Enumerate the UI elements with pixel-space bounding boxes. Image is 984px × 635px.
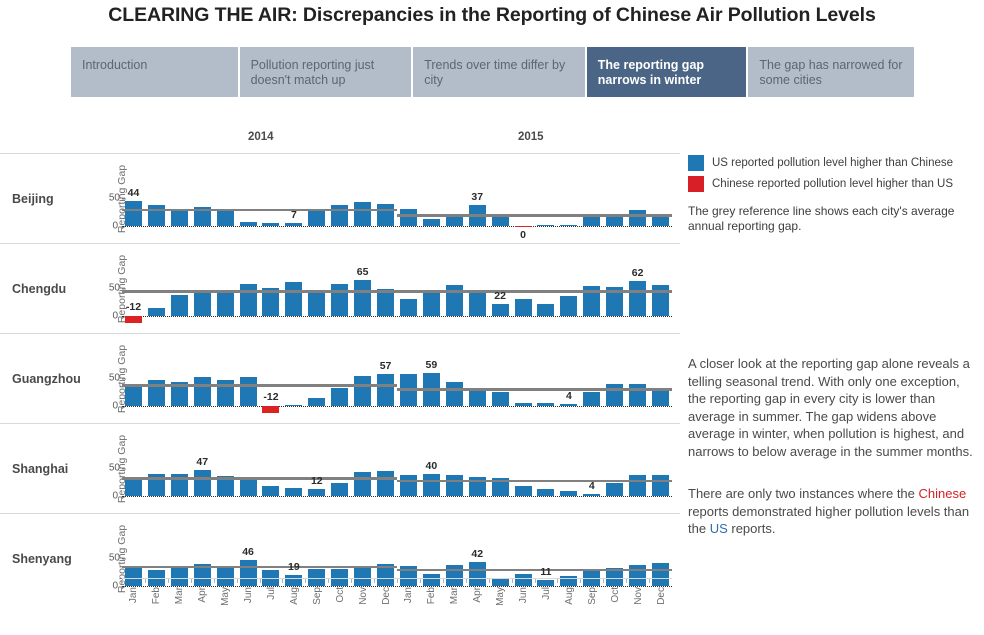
month-label: Feb: [426, 587, 437, 604]
average-reference-line-2015: [397, 569, 672, 572]
month-tick: [512, 579, 513, 583]
month-label: Oct: [610, 587, 621, 603]
bar-value-label: 42: [471, 548, 483, 560]
average-reference-line-2015: [397, 214, 672, 217]
plot-area-shanghai: 5004712404: [122, 434, 672, 506]
city-label-guangzhou: Guangzhou: [12, 372, 81, 386]
month-label: Jun: [518, 587, 529, 603]
bar[interactable]: [583, 494, 600, 496]
bar[interactable]: [262, 486, 279, 496]
bar[interactable]: [606, 216, 623, 226]
bar-value-label: 11: [540, 566, 551, 578]
month-label: Apr: [472, 587, 483, 603]
bar-value-label: 40: [426, 460, 438, 472]
right-panel: US reported pollution level higher than …: [688, 155, 980, 234]
bar-value-label: 59: [426, 359, 438, 371]
city-row-beijing: BeijingReporting Gap500447370: [0, 153, 680, 243]
month-label: Oct: [335, 587, 346, 603]
bar[interactable]: [331, 483, 348, 496]
bar[interactable]: [217, 292, 234, 316]
month-tick: [260, 579, 261, 583]
bar[interactable]: [423, 474, 440, 496]
month-label: Apr: [197, 587, 208, 603]
legend-label-chinese-higher: Chinese reported pollution level higher …: [712, 178, 953, 190]
bar[interactable]: [537, 403, 554, 406]
bar[interactable]: [515, 299, 532, 316]
bar[interactable]: [537, 225, 554, 226]
plot-area-beijing: 500447370: [122, 164, 672, 236]
month-tick: [282, 579, 283, 583]
month-label: Aug: [289, 587, 300, 605]
bar[interactable]: [652, 475, 669, 496]
bar-value-label: 4: [566, 390, 572, 402]
month-tick: [191, 579, 192, 583]
bar[interactable]: [262, 223, 279, 226]
bar[interactable]: [148, 308, 165, 316]
bar[interactable]: [125, 386, 142, 406]
bar-value-label: 65: [357, 266, 369, 278]
city-row-chengdu: ChengduReporting Gap500-12652262: [0, 243, 680, 333]
average-reference-line-2015: [397, 290, 672, 293]
legend-swatch-red-icon: [688, 176, 704, 192]
month-label: Sep: [312, 587, 323, 605]
bar[interactable]: [194, 290, 211, 316]
bar[interactable]: [515, 486, 532, 496]
instances-text-pre: There are only two instances where the: [688, 486, 919, 501]
bar[interactable]: [469, 291, 486, 316]
bar[interactable]: [240, 377, 257, 406]
legend-item-chinese-higher: Chinese reported pollution level higher …: [688, 176, 980, 192]
bar[interactable]: [492, 215, 509, 226]
y-tick-50: 50: [109, 553, 120, 564]
month-tick: [603, 579, 604, 583]
bar[interactable]: [537, 304, 554, 316]
bar[interactable]: [423, 219, 440, 226]
month-tick: [237, 579, 238, 583]
month-label: Dec: [656, 587, 667, 605]
bar[interactable]: [194, 377, 211, 406]
bar[interactable]: [285, 488, 302, 496]
month-label: Feb: [151, 587, 162, 604]
bar[interactable]: [400, 475, 417, 496]
bar-value-label: 57: [380, 360, 392, 372]
month-tick: [466, 579, 467, 583]
city-charts-panel: BeijingReporting Gap500447370ChengduRepo…: [0, 153, 680, 604]
bar[interactable]: [629, 281, 646, 316]
bar-value-label: 22: [494, 290, 506, 302]
average-reference-line-2014: [122, 384, 397, 387]
average-reference-line-2015: [397, 480, 672, 483]
bar[interactable]: [331, 284, 348, 316]
bar-value-label: 46: [242, 546, 254, 558]
average-reference-line-2014: [122, 477, 397, 480]
bar[interactable]: [171, 295, 188, 316]
month-tick: [145, 579, 146, 583]
average-reference-line-2014: [122, 209, 397, 212]
bar[interactable]: [125, 201, 142, 226]
bar[interactable]: [125, 478, 142, 496]
bar[interactable]: [377, 374, 394, 406]
bar[interactable]: [652, 216, 669, 226]
month-tick: [443, 579, 444, 583]
tab-introduction[interactable]: Introduction: [71, 47, 238, 97]
bar[interactable]: [308, 489, 325, 496]
bar-value-label: -12: [126, 301, 141, 313]
page-title: CLEARING THE AIR: Discrepancies in the R…: [0, 4, 984, 27]
legend-item-us-higher: US reported pollution level higher than …: [688, 155, 980, 171]
city-row-shanghai: ShanghaiReporting Gap5004712404: [0, 423, 680, 513]
bar[interactable]: [194, 470, 211, 496]
y-tick-0: 0: [112, 311, 118, 322]
month-label: May: [220, 587, 231, 606]
bar[interactable]: [560, 491, 577, 496]
city-label-shanghai: Shanghai: [12, 462, 68, 476]
bar-value-label: 19: [288, 561, 300, 573]
month-tick: [305, 579, 306, 583]
month-tick: [420, 579, 421, 583]
bar[interactable]: [560, 296, 577, 316]
bar[interactable]: [515, 226, 532, 227]
bar[interactable]: [240, 284, 257, 316]
bar[interactable]: [308, 290, 325, 316]
instances-text-chinese: Chinese: [919, 486, 967, 501]
bar-value-label: 0: [520, 229, 526, 241]
legend-swatch-blue-icon: [688, 155, 704, 171]
bar[interactable]: [583, 215, 600, 226]
bar-value-label: 4: [589, 480, 595, 492]
bar[interactable]: [606, 483, 623, 496]
bar[interactable]: [240, 222, 257, 226]
plot-area-chengdu: 500-12652262: [122, 254, 672, 326]
y-tick-0: 0: [112, 221, 118, 232]
instances-text-post: reports.: [728, 521, 776, 536]
zero-baseline: [122, 406, 672, 407]
bar[interactable]: [354, 202, 371, 226]
month-tick: [374, 579, 375, 583]
bar[interactable]: [652, 389, 669, 406]
bar[interactable]: [492, 392, 509, 406]
month-tick: [351, 579, 352, 583]
city-label-beijing: Beijing: [12, 192, 54, 206]
bar[interactable]: [469, 390, 486, 406]
bar[interactable]: [560, 225, 577, 226]
bar-value-label: 12: [311, 475, 323, 487]
bar[interactable]: [285, 223, 302, 226]
month-tick: [580, 579, 581, 583]
month-tick: [328, 579, 329, 583]
month-label: Jul: [541, 587, 552, 600]
y-tick-50: 50: [109, 283, 120, 294]
month-tick: [626, 579, 627, 583]
bar[interactable]: [400, 299, 417, 316]
month-label: Aug: [564, 587, 575, 605]
y-tick-0: 0: [112, 581, 118, 592]
y-tick-50: 50: [109, 193, 120, 204]
month-label: Jun: [243, 587, 254, 603]
paragraph-seasonal-trend: A closer look at the reporting gap alone…: [688, 355, 980, 460]
year-label-2014: 2014: [248, 131, 274, 143]
month-label: Jul: [266, 587, 277, 600]
bar[interactable]: [560, 404, 577, 406]
y-tick-0: 0: [112, 401, 118, 412]
bar-value-label: -12: [263, 391, 278, 403]
bar[interactable]: [377, 204, 394, 226]
bar[interactable]: [354, 376, 371, 406]
bar[interactable]: [285, 405, 302, 406]
bar[interactable]: [240, 478, 257, 496]
bar[interactable]: [377, 471, 394, 496]
month-label: Mar: [449, 587, 460, 604]
month-axis: JanFebMarAprMayJunJulAugSepOctNovDecJanF…: [122, 578, 672, 635]
bar[interactable]: [446, 382, 463, 406]
tab-reporting-gap-winter[interactable]: The reporting gap narrows in winter: [587, 47, 747, 97]
bar-value-label: 62: [632, 267, 644, 279]
month-label: Dec: [381, 587, 392, 605]
month-tick: [649, 579, 650, 583]
bar[interactable]: [400, 209, 417, 226]
month-tick: [122, 579, 123, 583]
paragraph-two-instances: There are only two instances where the C…: [688, 485, 980, 538]
month-label: Sep: [587, 587, 598, 605]
bar[interactable]: [629, 384, 646, 406]
bar[interactable]: [537, 489, 554, 496]
bar-value-label: 37: [471, 191, 483, 203]
month-label: May: [495, 587, 506, 606]
month-label: Jan: [128, 587, 139, 603]
tab-gap-narrowed[interactable]: The gap has narrowed for some cities: [748, 47, 914, 97]
month-tick: [489, 579, 490, 583]
average-reference-line-2014: [122, 290, 397, 293]
bar[interactable]: [125, 316, 142, 323]
month-tick: [168, 579, 169, 583]
y-tick-0: 0: [112, 491, 118, 502]
bar-value-label: 7: [291, 209, 297, 221]
tab-trends-over-time[interactable]: Trends over time differ by city: [413, 47, 585, 97]
bar[interactable]: [583, 392, 600, 406]
bar[interactable]: [446, 475, 463, 496]
month-label: Nov: [633, 587, 644, 605]
bar[interactable]: [354, 472, 371, 496]
bar[interactable]: [354, 280, 371, 316]
y-tick-50: 50: [109, 463, 120, 474]
bar[interactable]: [308, 398, 325, 406]
plot-area-guangzhou: 500-1257594: [122, 344, 672, 416]
zero-baseline: [122, 226, 672, 227]
month-tick: [397, 579, 398, 583]
bar[interactable]: [629, 475, 646, 496]
bar[interactable]: [515, 403, 532, 406]
average-reference-line-2014: [122, 566, 397, 569]
bar[interactable]: [331, 388, 348, 406]
city-label-chengdu: Chengdu: [12, 282, 66, 296]
month-label: Nov: [358, 587, 369, 605]
year-header: 2014 2015: [122, 131, 672, 149]
average-reference-line-2015: [397, 388, 672, 391]
zero-baseline: [122, 496, 672, 497]
bar[interactable]: [492, 304, 509, 316]
bar[interactable]: [377, 289, 394, 316]
city-row-guangzhou: GuangzhouReporting Gap500-1257594: [0, 333, 680, 423]
zero-baseline: [122, 316, 672, 317]
reference-line-note: The grey reference line shows each city'…: [688, 204, 980, 234]
bar-value-label: 47: [196, 456, 208, 468]
bar[interactable]: [423, 290, 440, 316]
tab-strip: Introduction Pollution reporting just do…: [71, 47, 914, 97]
month-tick: [535, 579, 536, 583]
bar[interactable]: [446, 217, 463, 226]
bar[interactable]: [285, 282, 302, 316]
bar[interactable]: [652, 285, 669, 316]
bar-value-label: 44: [128, 187, 140, 199]
tab-pollution-reporting[interactable]: Pollution reporting just doesn't match u…: [240, 47, 412, 97]
y-tick-50: 50: [109, 373, 120, 384]
month-label: Mar: [174, 587, 185, 604]
month-tick: [214, 579, 215, 583]
bar[interactable]: [262, 406, 279, 413]
year-label-2015: 2015: [518, 131, 544, 143]
instances-text-us: US: [710, 521, 728, 536]
city-label-shenyang: Shenyang: [12, 552, 72, 566]
month-label: Jan: [403, 587, 414, 603]
month-tick: [557, 579, 558, 583]
legend-label-us-higher: US reported pollution level higher than …: [712, 157, 953, 169]
bar[interactable]: [629, 210, 646, 226]
